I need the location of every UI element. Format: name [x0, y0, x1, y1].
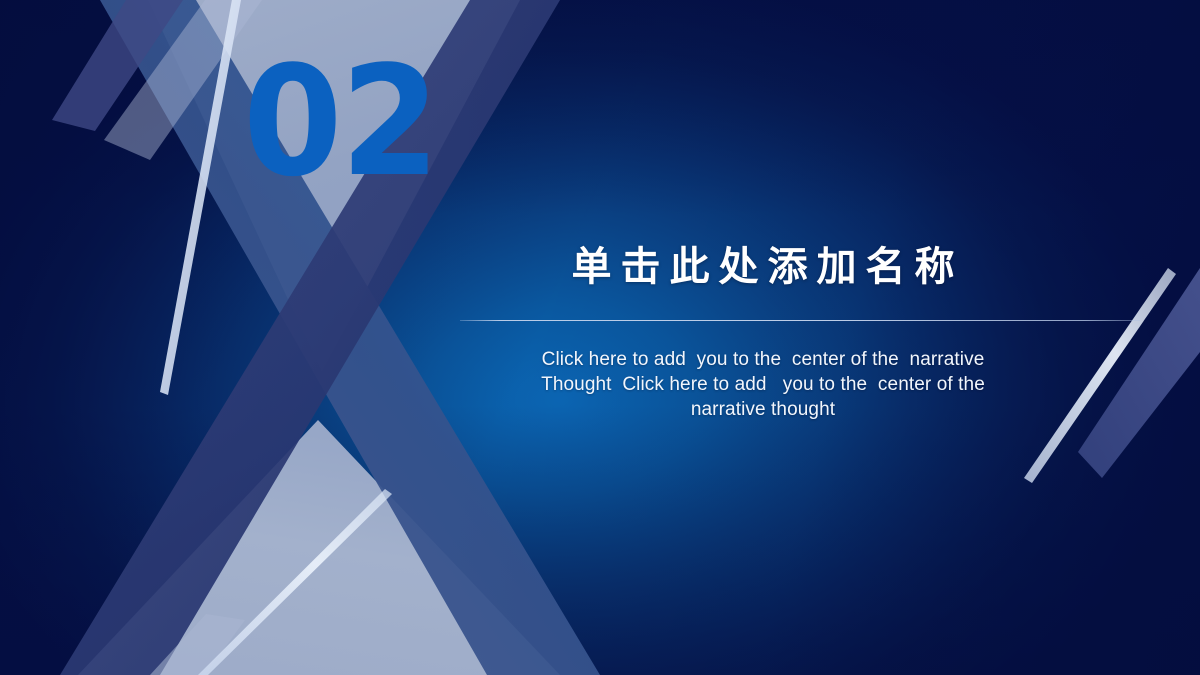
presentation-slide: 02 单击此处添加名称 Click here to add you to the…	[0, 0, 1200, 675]
decorative-geometry	[0, 0, 1200, 675]
body-text-line-2: Thought Click here to add you to the cen…	[463, 372, 1063, 397]
title-divider-line	[460, 320, 1140, 321]
body-text-line-1: Click here to add you to the center of t…	[463, 347, 1063, 372]
body-text[interactable]: Click here to add you to the center of t…	[463, 347, 1063, 422]
body-text-line-3: narrative thought	[463, 397, 1063, 422]
section-number: 02	[243, 46, 438, 198]
page-title[interactable]: 单击此处添加名称	[463, 244, 1063, 291]
